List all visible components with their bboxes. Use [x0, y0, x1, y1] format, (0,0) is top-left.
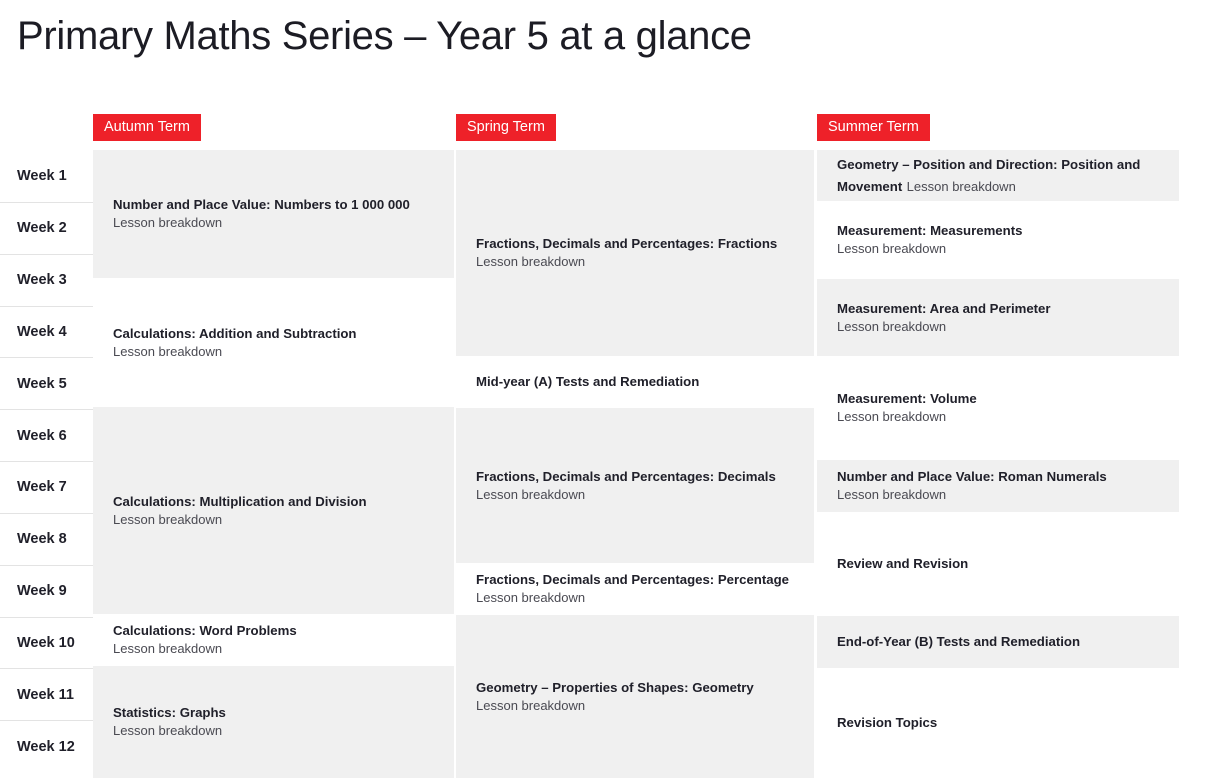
week-label: Week 6	[17, 428, 67, 444]
topic-block[interactable]: Revision Topics	[817, 668, 1179, 778]
term-header-spring: Spring Term	[456, 114, 556, 141]
lesson-breakdown-link[interactable]: Lesson breakdown	[476, 697, 794, 714]
week-row: Week 11	[0, 668, 93, 720]
topic-block[interactable]: Measurement: MeasurementsLesson breakdow…	[817, 201, 1179, 279]
lesson-breakdown-link[interactable]: Lesson breakdown	[476, 589, 794, 606]
topic-text: Revision Topics	[837, 714, 1159, 732]
topic-text: Number and Place Value: Roman NumeralsLe…	[837, 468, 1159, 503]
topic-block[interactable]: Fractions, Decimals and Percentages: Dec…	[456, 408, 814, 563]
week-row: Week 5	[0, 357, 93, 409]
topic-block[interactable]: Measurement: VolumeLesson breakdown	[817, 356, 1179, 460]
topic-title: Measurement: Volume	[837, 391, 977, 406]
topic-text: Fractions, Decimals and Percentages: Dec…	[476, 468, 794, 503]
topic-title: Fractions, Decimals and Percentages: Per…	[476, 572, 789, 587]
lesson-breakdown-link[interactable]: Lesson breakdown	[113, 214, 434, 231]
week-label: Week 9	[17, 583, 67, 599]
week-label: Week 2	[17, 220, 67, 236]
week-label: Week 8	[17, 531, 67, 547]
week-row: Week 10	[0, 617, 93, 669]
topic-title: Fractions, Decimals and Percentages: Fra…	[476, 236, 777, 251]
week-label: Week 12	[17, 739, 75, 755]
week-label: Week 11	[17, 687, 74, 703]
lesson-breakdown-link[interactable]: Lesson breakdown	[837, 408, 1159, 425]
topic-text: Fractions, Decimals and Percentages: Per…	[476, 571, 794, 606]
week-label: Week 10	[17, 635, 75, 651]
term-header-summer: Summer Term	[817, 114, 930, 141]
term-column-spring: Fractions, Decimals and Percentages: Fra…	[456, 150, 814, 778]
lesson-breakdown-link[interactable]: Lesson breakdown	[476, 253, 794, 270]
topic-block[interactable]: Measurement: Area and PerimeterLesson br…	[817, 279, 1179, 356]
lesson-breakdown-link[interactable]: Lesson breakdown	[113, 640, 434, 657]
week-label: Week 5	[17, 376, 67, 392]
topic-block[interactable]: Number and Place Value: Numbers to 1 000…	[93, 150, 454, 278]
topic-block[interactable]: Fractions, Decimals and Percentages: Per…	[456, 563, 814, 615]
topic-block[interactable]: Calculations: Multiplication and Divisio…	[93, 407, 454, 614]
topic-title: Geometry – Properties of Shapes: Geometr…	[476, 680, 754, 695]
week-label: Week 4	[17, 324, 67, 340]
lesson-breakdown-link[interactable]: Lesson breakdown	[113, 722, 434, 739]
topic-title: Review and Revision	[837, 556, 968, 571]
topic-title: Revision Topics	[837, 715, 937, 730]
week-row: Week 12	[0, 720, 93, 772]
topic-block[interactable]: Review and Revision	[817, 512, 1179, 616]
topic-text: End-of-Year (B) Tests and Remediation	[837, 633, 1159, 651]
week-row: Week 6	[0, 409, 93, 461]
term-column-autumn: Number and Place Value: Numbers to 1 000…	[93, 150, 454, 778]
week-label: Week 7	[17, 479, 67, 495]
topic-block[interactable]: Fractions, Decimals and Percentages: Fra…	[456, 150, 814, 356]
topic-block[interactable]: Number and Place Value: Roman NumeralsLe…	[817, 460, 1179, 512]
topic-text: Measurement: Area and PerimeterLesson br…	[837, 300, 1159, 335]
term-header-autumn: Autumn Term	[93, 114, 201, 141]
lesson-breakdown-link[interactable]: Lesson breakdown	[476, 486, 794, 503]
topic-title: Number and Place Value: Numbers to 1 000…	[113, 197, 410, 212]
topic-text: Calculations: Word ProblemsLesson breakd…	[113, 622, 434, 657]
topic-block[interactable]: Statistics: GraphsLesson breakdown	[93, 666, 454, 778]
week-row: Week 9	[0, 565, 93, 617]
topic-text: Statistics: GraphsLesson breakdown	[113, 704, 434, 739]
topic-block[interactable]: Calculations: Word ProblemsLesson breakd…	[93, 614, 454, 666]
lesson-breakdown-link[interactable]: Lesson breakdown	[907, 179, 1016, 194]
topic-title: Calculations: Multiplication and Divisio…	[113, 494, 367, 509]
page-title: Primary Maths Series – Year 5 at a glanc…	[17, 14, 752, 59]
lesson-breakdown-link[interactable]: Lesson breakdown	[837, 486, 1159, 503]
topic-title: Fractions, Decimals and Percentages: Dec…	[476, 469, 776, 484]
week-row: Week 1	[0, 150, 93, 202]
topic-title: Calculations: Addition and Subtraction	[113, 326, 356, 341]
lesson-breakdown-link[interactable]: Lesson breakdown	[113, 343, 434, 360]
topic-text: Geometry – Properties of Shapes: Geometr…	[476, 679, 794, 714]
week-row: Week 3	[0, 254, 93, 306]
week-row: Week 2	[0, 202, 93, 254]
topic-text: Geometry – Position and Direction: Posit…	[837, 154, 1159, 197]
topic-block[interactable]: Calculations: Addition and SubtractionLe…	[93, 278, 454, 407]
lesson-breakdown-link[interactable]: Lesson breakdown	[837, 318, 1159, 335]
week-label-column: Week 1Week 2Week 3Week 4Week 5Week 6Week…	[0, 150, 93, 778]
topic-block[interactable]: Mid-year (A) Tests and Remediation	[456, 356, 814, 408]
topic-block[interactable]: Geometry – Properties of Shapes: Geometr…	[456, 615, 814, 778]
topic-title: Measurement: Area and Perimeter	[837, 301, 1051, 316]
topic-title: Statistics: Graphs	[113, 705, 226, 720]
lesson-breakdown-link[interactable]: Lesson breakdown	[113, 511, 434, 528]
week-row: Week 8	[0, 513, 93, 565]
week-label: Week 1	[17, 168, 67, 184]
topic-title: End-of-Year (B) Tests and Remediation	[837, 634, 1080, 649]
topic-title: Mid-year (A) Tests and Remediation	[476, 374, 699, 389]
week-row: Week 4	[0, 306, 93, 358]
week-row: Week 7	[0, 461, 93, 513]
topic-block[interactable]: End-of-Year (B) Tests and Remediation	[817, 616, 1179, 668]
topic-block[interactable]: Geometry – Position and Direction: Posit…	[817, 150, 1179, 201]
week-label: Week 3	[17, 272, 67, 288]
topic-text: Fractions, Decimals and Percentages: Fra…	[476, 235, 794, 270]
topic-title: Calculations: Word Problems	[113, 623, 297, 638]
topic-text: Mid-year (A) Tests and Remediation	[476, 373, 794, 391]
topic-text: Number and Place Value: Numbers to 1 000…	[113, 196, 434, 231]
topic-text: Review and Revision	[837, 555, 1159, 573]
lesson-breakdown-link[interactable]: Lesson breakdown	[837, 240, 1159, 257]
topic-text: Measurement: MeasurementsLesson breakdow…	[837, 222, 1159, 257]
curriculum-overview-page: Primary Maths Series – Year 5 at a glanc…	[0, 0, 1222, 778]
topic-title: Measurement: Measurements	[837, 223, 1022, 238]
topic-text: Measurement: VolumeLesson breakdown	[837, 390, 1159, 425]
topic-text: Calculations: Multiplication and Divisio…	[113, 493, 434, 528]
term-column-summer: Geometry – Position and Direction: Posit…	[817, 150, 1179, 778]
topic-title: Number and Place Value: Roman Numerals	[837, 469, 1107, 484]
topic-text: Calculations: Addition and SubtractionLe…	[113, 325, 434, 360]
